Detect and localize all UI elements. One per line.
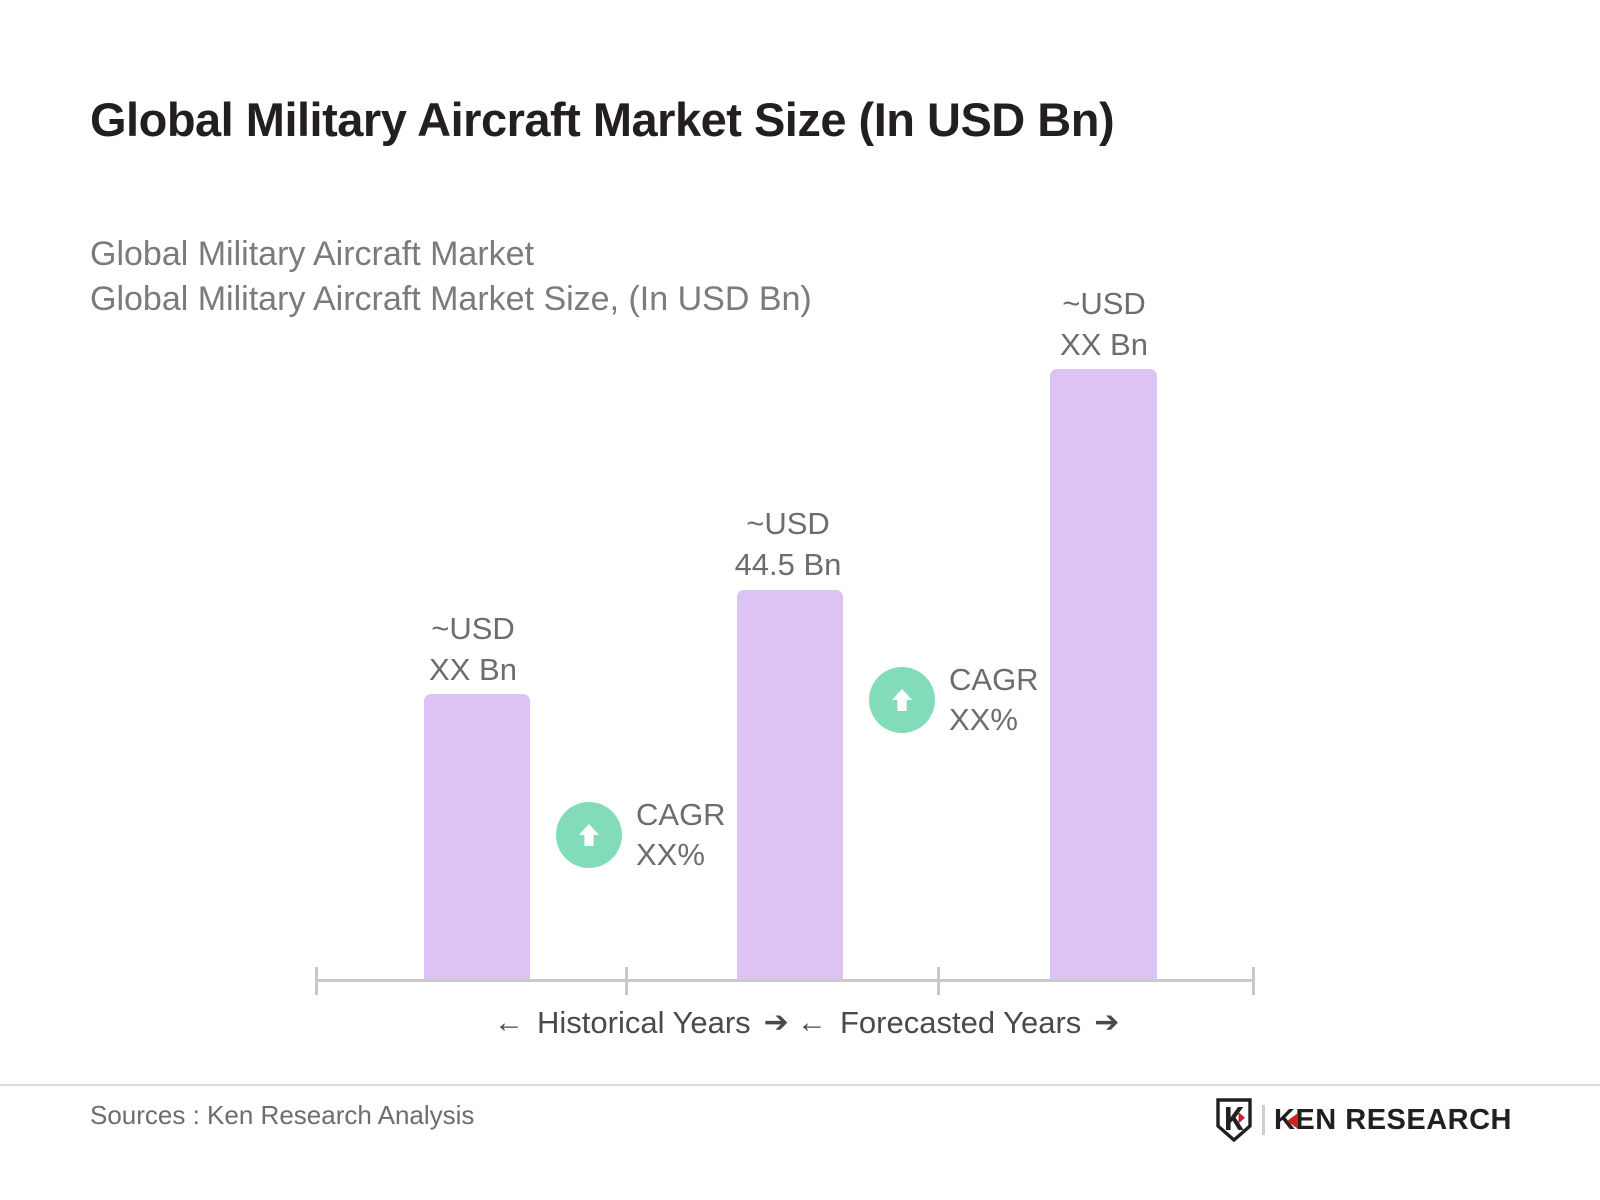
axis-caption-historical: ← Historical Years ➔ [494, 1005, 789, 1041]
sources-label: Sources : Ken Research Analysis [90, 1100, 474, 1131]
bar-3[interactable] [1050, 369, 1157, 981]
arrow-left-icon: ← [797, 1008, 827, 1038]
ken-research-logo-mark [1215, 1098, 1253, 1142]
bar-value-label-2-line-1: ~USD [692, 503, 884, 544]
bar-1[interactable] [424, 694, 530, 981]
x-axis-line [315, 979, 1255, 982]
axis-caption-forecasted: ← Forecasted Years ➔ [797, 1005, 1119, 1041]
axis-caption-forecasted-label: Forecasted Years [840, 1005, 1081, 1041]
bar-value-label-1-line-2: XX Bn [378, 649, 568, 690]
bar-value-label-1: ~USD XX Bn [378, 608, 568, 690]
logo-k-letter: K [1274, 1106, 1295, 1135]
logo-divider [1262, 1105, 1265, 1135]
logo-red-triangle-icon [1287, 1113, 1298, 1129]
arrow-up-icon [556, 802, 622, 868]
arrow-left-icon: ← [494, 1008, 524, 1038]
cagr-annotation-2-text: CAGR XX% [949, 660, 1039, 740]
footer-divider [0, 1084, 1600, 1086]
ken-research-logo-text: K EN RESEARCH [1274, 1106, 1512, 1135]
cagr-annotation-2[interactable]: CAGR XX% [869, 660, 1039, 740]
logo-name-rest: EN RESEARCH [1295, 1106, 1512, 1135]
x-axis-tick-start [315, 967, 318, 995]
arrow-up-icon [869, 667, 935, 733]
cagr-annotation-1-line-2: XX% [636, 835, 726, 875]
arrow-right-icon: ➔ [1094, 1008, 1119, 1038]
bar-value-label-3: ~USD XX Bn [1008, 283, 1200, 365]
bar-2[interactable] [737, 590, 843, 981]
bar-value-label-3-line-1: ~USD [1008, 283, 1200, 324]
x-axis-tick-end [1252, 967, 1255, 995]
ken-research-logo: K EN RESEARCH [1215, 1098, 1512, 1142]
bar-value-label-2-line-2: 44.5 Bn [692, 544, 884, 585]
arrow-right-icon: ➔ [764, 1008, 789, 1038]
cagr-annotation-2-line-1: CAGR [949, 660, 1039, 700]
cagr-annotation-1-text: CAGR XX% [636, 795, 726, 875]
bar-chart: ~USD XX Bn ~USD 44.5 Bn ~USD XX Bn CAGR … [0, 0, 1600, 1200]
axis-caption-historical-label: Historical Years [537, 1005, 751, 1041]
x-axis-tick-middle-2 [937, 967, 940, 995]
bar-value-label-2: ~USD 44.5 Bn [692, 503, 884, 585]
cagr-annotation-1-line-1: CAGR [636, 795, 726, 835]
x-axis-tick-middle-1 [625, 967, 628, 995]
bar-value-label-1-line-1: ~USD [378, 608, 568, 649]
slide-canvas: Global Military Aircraft Market Size (In… [0, 0, 1600, 1200]
bar-value-label-3-line-2: XX Bn [1008, 324, 1200, 365]
cagr-annotation-1[interactable]: CAGR XX% [556, 795, 726, 875]
cagr-annotation-2-line-2: XX% [949, 700, 1039, 740]
